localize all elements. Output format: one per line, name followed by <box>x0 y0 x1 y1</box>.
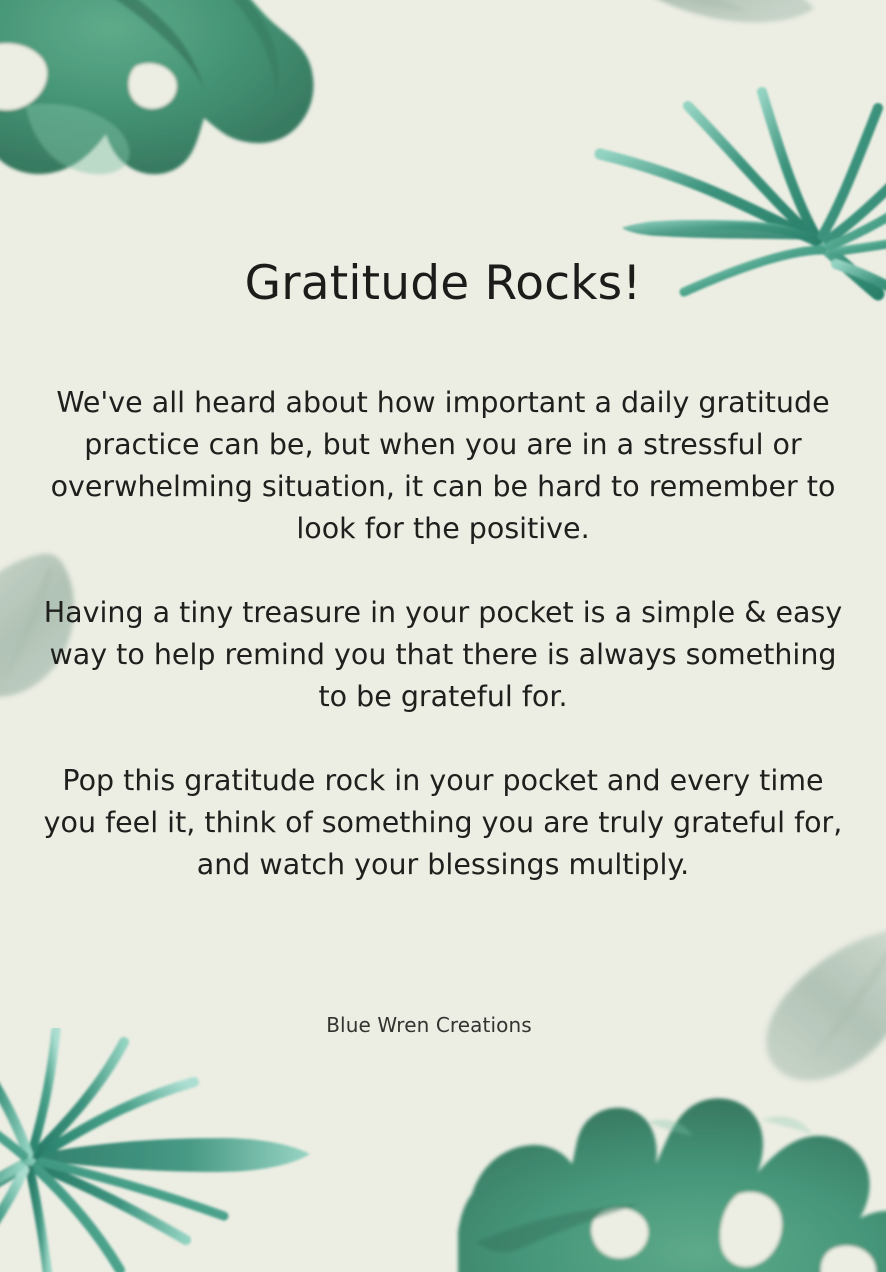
body-copy: We've all heard about how important a da… <box>43 382 843 886</box>
card-content: Gratitude Rocks! We've all heard about h… <box>0 0 886 1272</box>
paragraph-3: Pop this gratitude rock in your pocket a… <box>43 760 843 886</box>
paragraph-1: We've all heard about how important a da… <box>43 382 843 550</box>
page-title: Gratitude Rocks! <box>0 258 886 311</box>
brand-footer: Blue Wren Creations <box>0 1013 858 1037</box>
gratitude-rocks-card: Gratitude Rocks! We've all heard about h… <box>0 0 886 1272</box>
paragraph-2: Having a tiny treasure in your pocket is… <box>43 592 843 718</box>
